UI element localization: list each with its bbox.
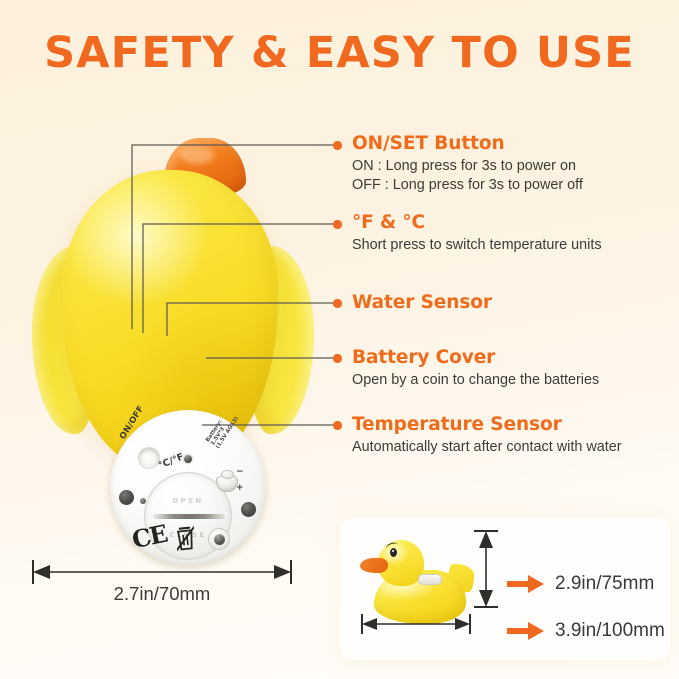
callout-temperature-unit: °F & °C Short press to switch temperatur… bbox=[352, 212, 602, 255]
callout-heading: Water Sensor bbox=[352, 292, 492, 314]
height-arrow-icon bbox=[468, 528, 502, 610]
callout-battery-cover: Battery Cover Open by a coin to change t… bbox=[352, 347, 599, 390]
orange-arrow-right-icon bbox=[506, 621, 546, 641]
panel-screw-right bbox=[241, 502, 256, 517]
callout-line-1: Automatically start after contact with w… bbox=[352, 438, 622, 458]
callout-heading: Battery Cover bbox=[352, 347, 599, 369]
panel-screw-left bbox=[119, 490, 134, 505]
inset-width-row: 3.9in/100mm bbox=[506, 620, 665, 642]
callout-line-2: OFF : Long press for 3s to power off bbox=[352, 176, 583, 196]
inset-height-label: 2.9in/75mm bbox=[555, 573, 654, 595]
bullet-on-set-button bbox=[333, 141, 342, 150]
temperature-unit-label: °C/°F bbox=[157, 451, 186, 471]
bullet-water-sensor bbox=[333, 299, 342, 308]
callout-heading: Temperature Sensor bbox=[352, 414, 622, 436]
duck-beak-side bbox=[360, 558, 388, 573]
bullet-temperature-sensor bbox=[333, 421, 342, 430]
temperature-sensor-probe bbox=[208, 528, 230, 550]
duck-device-illustration: ON/OFF °C/°F Battery:1.5V*3(1.5V AG13) O… bbox=[22, 120, 322, 475]
water-sensor-probe bbox=[184, 455, 192, 463]
bullet-battery-cover bbox=[333, 354, 342, 363]
width-arrow-icon bbox=[28, 558, 296, 586]
inset-dimension-group: 2.9in/75mm 3.9in/100mm bbox=[480, 518, 670, 660]
bullet-temperature-unit bbox=[333, 220, 342, 229]
inset-height-row: 2.9in/75mm bbox=[506, 573, 654, 595]
coin-slot bbox=[153, 514, 225, 519]
weee-bin-icon bbox=[175, 525, 197, 552]
callout-line-1: Short press to switch temperature units bbox=[352, 236, 602, 256]
duck-eye bbox=[390, 548, 397, 557]
orange-arrow-right-icon bbox=[506, 574, 546, 594]
callout-temperature-sensor: Temperature Sensor Automatically start a… bbox=[352, 414, 622, 457]
callout-heading: ON/SET Button bbox=[352, 133, 583, 155]
panel-vent-hole bbox=[140, 498, 146, 504]
duck-display-screen bbox=[418, 574, 442, 585]
callout-on-set-button: ON/SET Button ON : Long press for 3s to … bbox=[352, 133, 583, 196]
overall-width-dimension: 2.7in/70mm bbox=[28, 558, 296, 620]
battery-plus-sign: + bbox=[236, 483, 244, 493]
page-title: SAFETY & EASY TO USE bbox=[0, 28, 679, 78]
callout-water-sensor: Water Sensor bbox=[352, 292, 492, 314]
inset-width-label: 3.9in/100mm bbox=[555, 620, 665, 642]
callout-heading: °F & °C bbox=[352, 212, 602, 234]
cover-open-text: OPEN bbox=[145, 497, 231, 505]
callout-line-1: Open by a coin to change the batteries bbox=[352, 371, 599, 391]
callout-line-1: ON : Long press for 3s to power on bbox=[352, 157, 583, 177]
on-set-button[interactable] bbox=[138, 447, 160, 469]
inset-width-arrow-icon bbox=[358, 611, 474, 637]
battery-polarity-icon: − + bbox=[214, 470, 240, 494]
device-back-panel: ON/OFF °C/°F Battery:1.5V*3(1.5V AG13) O… bbox=[110, 410, 266, 566]
size-inset-card: 2.9in/75mm 3.9in/100mm bbox=[340, 518, 670, 660]
overall-width-label: 2.7in/70mm bbox=[28, 583, 296, 605]
battery-minus-sign: − bbox=[236, 467, 244, 477]
battery-spec-label: Battery:1.5V*3(1.5V AG13) bbox=[205, 409, 240, 450]
